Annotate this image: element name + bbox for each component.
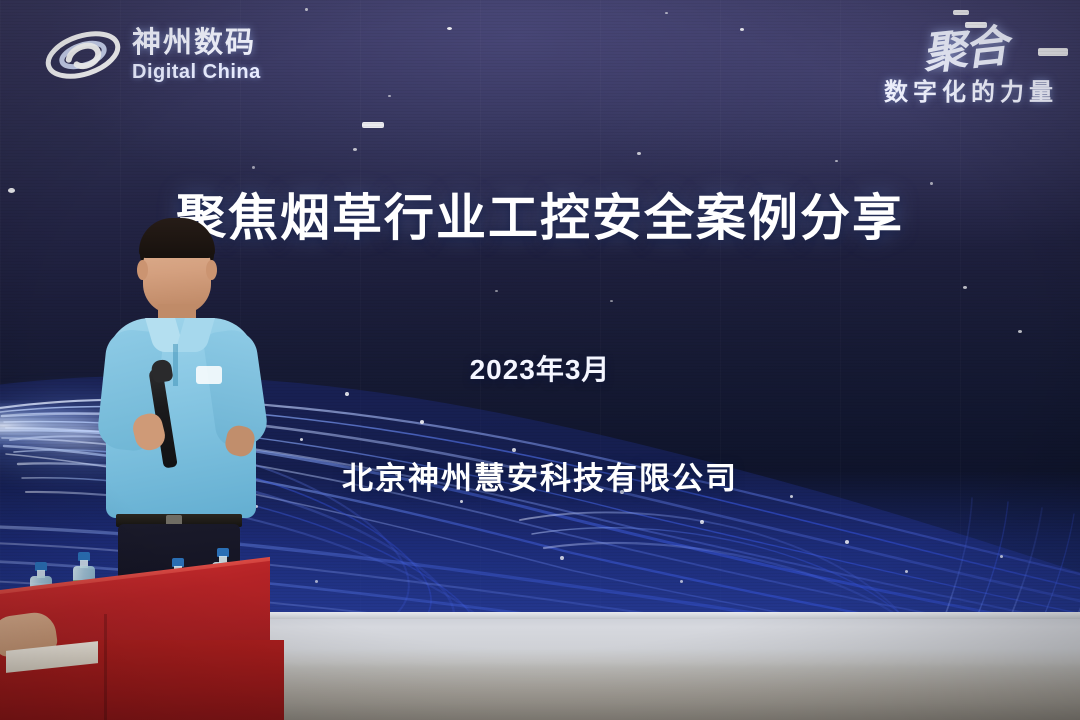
digital-china-wordmark: 神州数码 Digital China	[132, 29, 261, 82]
presenter-hair-top	[139, 218, 215, 258]
event-logo-calligraphy: 聚合	[919, 10, 1009, 82]
presenter-shirt-placket	[173, 344, 178, 386]
event-logo-subtitle: 数字化的力量	[788, 72, 1058, 107]
digital-china-logo: 神州数码 Digital China	[44, 18, 314, 92]
table-cloth-fold	[104, 614, 107, 720]
brand-name-en: Digital China	[132, 62, 261, 82]
screenshot-root: 神州数码 Digital China 聚合 数字化的力量 聚焦烟草行业工控安全案…	[0, 0, 1080, 720]
presenter-ear-left	[137, 260, 148, 280]
digital-china-swirl-icon	[44, 24, 122, 86]
presenter-chest-logo	[196, 366, 222, 384]
presenter-ear-right	[206, 260, 217, 280]
brand-name-cn: 神州数码	[132, 29, 261, 58]
event-logo: 聚合 数字化的力量	[788, 14, 1058, 110]
